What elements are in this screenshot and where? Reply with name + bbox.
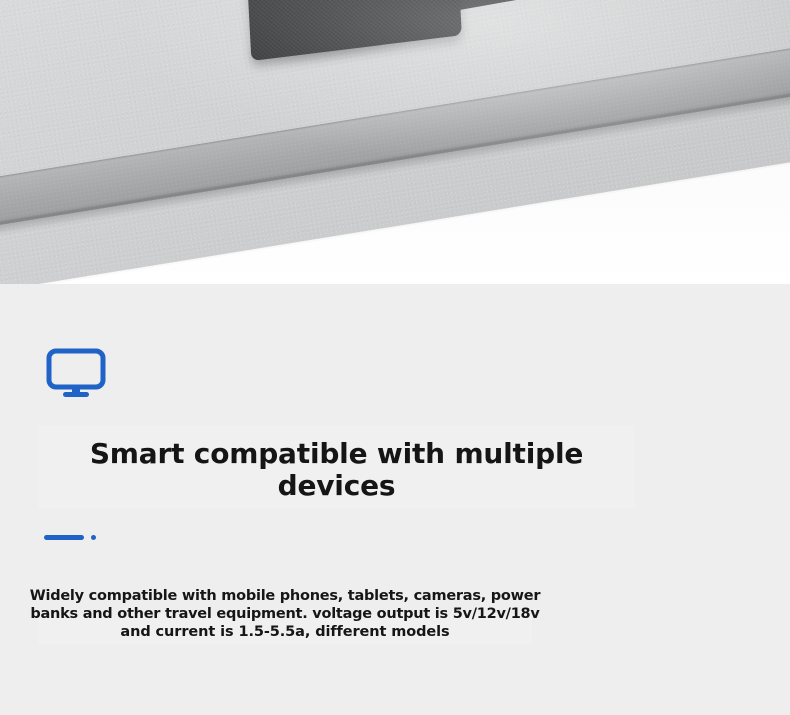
feature-heading: Smart compatible with multiple devices xyxy=(60,438,613,502)
divider-dot xyxy=(91,535,96,540)
accent-divider xyxy=(44,535,96,540)
product-photo xyxy=(0,0,790,284)
description-line-1: Widely compatible with mobile phones, ta… xyxy=(14,587,556,605)
feature-description: Widely compatible with mobile phones, ta… xyxy=(14,587,556,641)
monitor-icon xyxy=(46,348,106,400)
divider-bar xyxy=(44,535,84,540)
product-feature-page: Smart compatible with multiple devices W… xyxy=(0,0,790,715)
feature-section: Smart compatible with multiple devices W… xyxy=(0,284,790,715)
description-line-3: and current is 1.5-5.5a, different model… xyxy=(14,623,556,641)
description-line-2: banks and other travel equipment. voltag… xyxy=(14,605,556,623)
